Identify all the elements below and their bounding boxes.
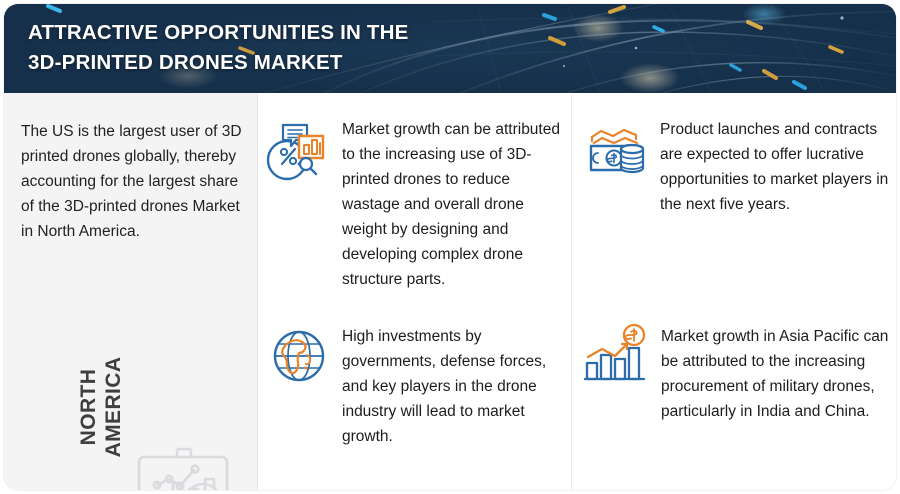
insight-text: Market growth in Asia Pacific can be att… — [661, 324, 896, 424]
region-label-line-2: AMERICA — [101, 322, 126, 490]
header-banner: ATTRACTIVE OPPORTUNITIES IN THE 3D-PRINT… — [4, 4, 896, 93]
region-label: NORTH AMERICA — [24, 308, 144, 478]
insight-item-percentage-growth: Market growth can be attributed to the i… — [266, 116, 572, 292]
page-title: ATTRACTIVE OPPORTUNITIES IN THE 3D-PRINT… — [28, 18, 409, 78]
infographic-card: ATTRACTIVE OPPORTUNITIES IN THE 3D-PRINT… — [4, 4, 896, 490]
middle-column: Market growth can be attributed to the i… — [259, 93, 572, 490]
growth-bar-chart-dollar-icon — [582, 323, 650, 424]
title-line-2: 3D-PRINTED DRONES MARKET — [28, 48, 409, 78]
title-line-1: ATTRACTIVE OPPORTUNITIES IN THE — [28, 18, 409, 48]
money-cash-coins-icon — [584, 116, 650, 217]
left-region-panel: The US is the largest user of 3D printed… — [4, 93, 258, 490]
insight-item-product-launches: Product launches and contracts are expec… — [584, 116, 896, 217]
left-panel-paragraph: The US is the largest user of 3D printed… — [21, 119, 243, 244]
insight-item-asia-pacific: Market growth in Asia Pacific can be att… — [582, 323, 896, 424]
region-label-rotated: NORTH AMERICA — [76, 322, 126, 490]
insight-text: High investments by governments, defense… — [342, 324, 570, 449]
presentation-board-analytics-icon — [129, 445, 241, 490]
right-column: Product launches and contracts are expec… — [573, 93, 896, 490]
percentage-chart-search-icon — [266, 116, 332, 292]
insight-item-investments: High investments by governments, defense… — [266, 323, 572, 449]
insight-text: Market growth can be attributed to the i… — [342, 117, 570, 292]
globe-icon — [266, 323, 332, 449]
region-label-line-1: NORTH — [76, 322, 101, 490]
insight-text: Product launches and contracts are expec… — [660, 117, 896, 217]
content-area: The US is the largest user of 3D printed… — [4, 93, 896, 490]
